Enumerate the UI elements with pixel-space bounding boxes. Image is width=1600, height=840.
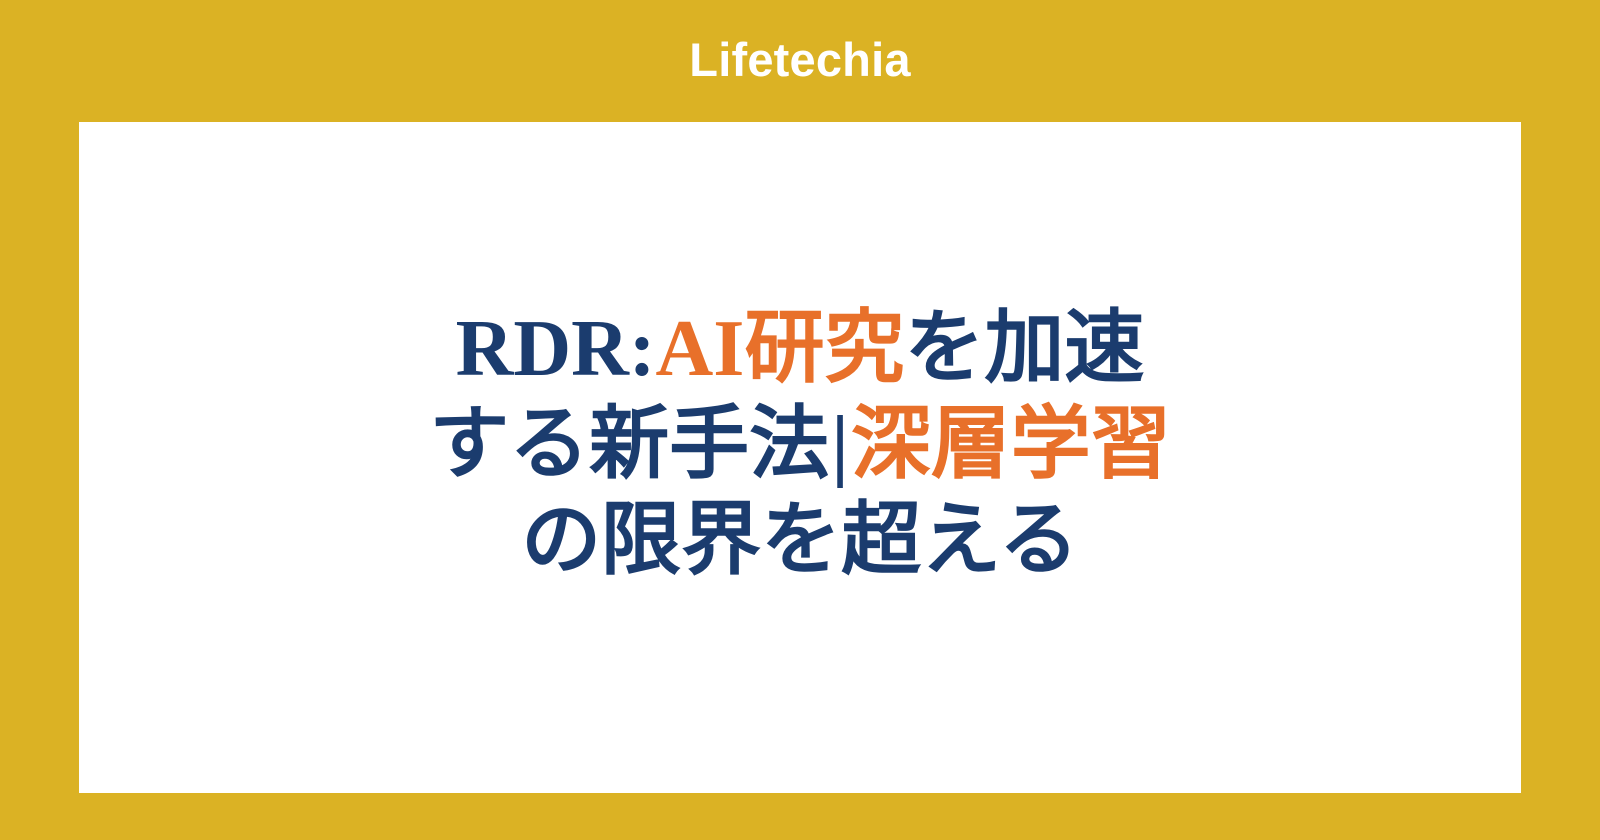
content-card: RDR:AI研究を加速 する新手法|深層学習 の限界を超える bbox=[79, 122, 1521, 793]
headline-separator: | bbox=[829, 401, 851, 489]
headline-line-1-prefix: RDR: bbox=[456, 305, 656, 393]
article-headline: RDR:AI研究を加速 する新手法|深層学習 の限界を超える bbox=[360, 301, 1240, 589]
headline-line-2-prefix: する新手法 bbox=[429, 401, 829, 489]
headline-line-3-text: の限界を超える bbox=[521, 497, 1079, 585]
headline-line-1-accent: AI研究 bbox=[656, 305, 905, 393]
headline-line-2: する新手法|深層学習 bbox=[360, 397, 1240, 493]
og-image-canvas: Lifetechia RDR:AI研究を加速 する新手法|深層学習 の限界を超え… bbox=[0, 0, 1600, 840]
headline-line-2-accent: 深層学習 bbox=[851, 401, 1171, 489]
headline-line-1-suffix: を加速 bbox=[904, 305, 1144, 393]
brand-name: Lifetechia bbox=[689, 36, 910, 83]
headline-line-1: RDR:AI研究を加速 bbox=[360, 301, 1240, 397]
headline-line-3: の限界を超える bbox=[360, 493, 1240, 589]
brand-header: Lifetechia bbox=[0, 0, 1600, 122]
